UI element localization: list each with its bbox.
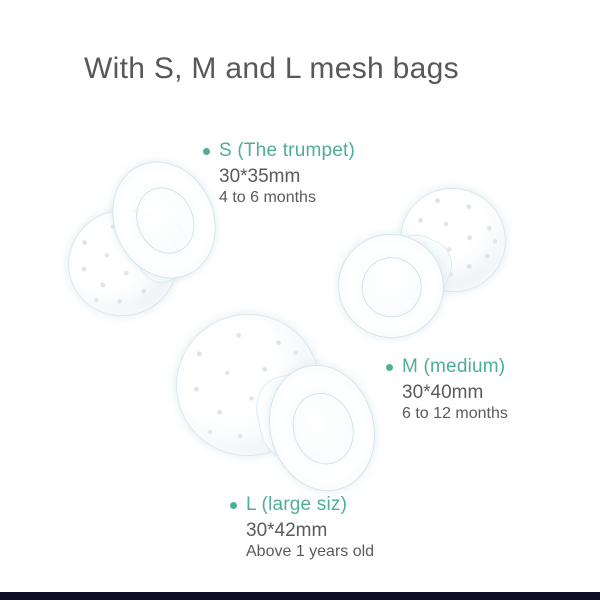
callout-medium: M (medium) 30*40mm 6 to 12 months — [386, 356, 508, 423]
callout-medium-head: M (medium) — [386, 356, 508, 378]
bullet-dot-icon — [203, 148, 210, 155]
bottom-accent-bar — [0, 592, 600, 600]
page-title: With S, M and L mesh bags — [84, 52, 459, 86]
callout-medium-age: 6 to 12 months — [386, 405, 508, 423]
callout-small-head: S (The trumpet) — [203, 140, 355, 162]
callout-large-dimensions: 30*42mm — [230, 520, 374, 542]
product-infographic: With S, M and L mesh bags S (The trumpet… — [0, 0, 600, 600]
callout-small-label: S (The trumpet) — [219, 140, 355, 162]
callout-large-head: L (large siz) — [230, 494, 374, 516]
callout-medium-label: M (medium) — [402, 356, 505, 378]
bullet-dot-icon — [230, 502, 237, 509]
callout-small-age: 4 to 6 months — [203, 189, 355, 207]
bullet-dot-icon — [386, 364, 393, 371]
callout-small-dimensions: 30*35mm — [203, 166, 355, 188]
callout-large-label: L (large siz) — [246, 494, 347, 516]
product-image-large — [176, 312, 372, 492]
callout-medium-dimensions: 30*40mm — [386, 382, 508, 404]
callout-large-age: Above 1 years old — [230, 543, 374, 561]
product-image-small — [62, 158, 212, 323]
callout-small: S (The trumpet) 30*35mm 4 to 6 months — [203, 140, 355, 207]
callout-large: L (large siz) 30*42mm Above 1 years old — [230, 494, 374, 561]
